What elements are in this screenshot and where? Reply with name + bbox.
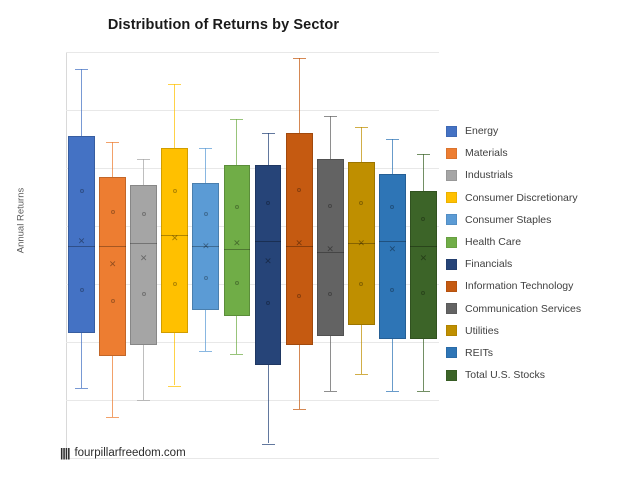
legend-swatch xyxy=(446,214,457,225)
mean-marker: ✕ xyxy=(233,239,241,247)
legend-item[interactable]: Energy xyxy=(446,120,617,142)
whisker-cap-upper xyxy=(137,159,150,160)
legend-item[interactable]: Financials xyxy=(446,253,617,275)
median-line xyxy=(410,246,437,247)
plot-area: ✕✕✕✕✕✕✕✕✕✕✕✕ xyxy=(66,52,439,458)
legend-swatch xyxy=(446,259,457,270)
quartile-marker xyxy=(173,282,177,286)
legend-label: Total U.S. Stocks xyxy=(465,369,545,381)
quartile-marker xyxy=(297,294,301,298)
mean-marker: ✕ xyxy=(357,239,365,247)
quartile-marker xyxy=(111,210,115,214)
box-plot-series[interactable]: ✕ xyxy=(286,52,313,458)
box-plot-series[interactable]: ✕ xyxy=(317,52,344,458)
legend-label: REITs xyxy=(465,347,493,359)
median-line xyxy=(255,241,282,242)
legend-label: Consumer Discretionary xyxy=(465,192,578,204)
box-plot-series[interactable]: ✕ xyxy=(224,52,251,458)
mean-marker: ✕ xyxy=(78,237,86,245)
box-plot-series[interactable]: ✕ xyxy=(192,52,219,458)
box-plot-chart: Distribution of Returns by Sector Annual… xyxy=(0,0,617,490)
legend-item[interactable]: Health Care xyxy=(446,231,617,253)
legend-swatch xyxy=(446,170,457,181)
mean-marker: ✕ xyxy=(388,245,396,253)
whisker-cap-lower xyxy=(230,354,243,355)
watermark-mark-icon: |||| xyxy=(60,446,69,460)
legend-item[interactable]: Industrials xyxy=(446,164,617,186)
box[interactable] xyxy=(68,136,95,333)
mean-marker: ✕ xyxy=(419,254,427,262)
whisker-cap-lower xyxy=(137,400,150,401)
whisker-cap-upper xyxy=(168,84,181,85)
watermark-text: fourpillarfreedom.com xyxy=(74,447,185,459)
median-line xyxy=(379,241,406,242)
legend-swatch xyxy=(446,281,457,292)
legend-label: Materials xyxy=(465,147,508,159)
legend-swatch xyxy=(446,126,457,137)
whisker-cap-upper xyxy=(262,133,275,134)
whisker-cap-upper xyxy=(75,69,88,70)
chart-title: Distribution of Returns by Sector xyxy=(0,17,447,33)
quartile-marker xyxy=(297,188,301,192)
y-axis-title: Annual Returns xyxy=(16,176,27,266)
watermark: |||| fourpillarfreedom.com xyxy=(60,446,186,460)
legend-item[interactable]: Consumer Staples xyxy=(446,209,617,231)
legend-label: Information Technology xyxy=(465,280,573,292)
legend-item[interactable]: Information Technology xyxy=(446,275,617,297)
legend-label: Energy xyxy=(465,125,498,137)
quartile-marker xyxy=(142,292,146,296)
box-plot-series[interactable]: ✕ xyxy=(99,52,126,458)
mean-marker: ✕ xyxy=(109,260,117,268)
legend-swatch xyxy=(446,303,457,314)
legend-item[interactable]: Materials xyxy=(446,142,617,164)
whisker-cap-upper xyxy=(324,116,337,117)
legend-swatch xyxy=(446,325,457,336)
box[interactable] xyxy=(379,174,406,339)
legend-swatch xyxy=(446,370,457,381)
legend-label: Utilities xyxy=(465,325,499,337)
median-line xyxy=(130,243,157,244)
mean-marker: ✕ xyxy=(264,257,272,265)
median-line xyxy=(99,246,126,247)
legend: EnergyMaterialsIndustrialsConsumer Discr… xyxy=(446,120,617,386)
legend-item[interactable]: REITs xyxy=(446,342,617,364)
legend-swatch xyxy=(446,237,457,248)
whisker-cap-upper xyxy=(417,154,430,155)
quartile-marker xyxy=(80,189,84,193)
whisker-cap-lower xyxy=(75,388,88,389)
box-plot-series[interactable]: ✕ xyxy=(379,52,406,458)
mean-marker: ✕ xyxy=(326,245,334,253)
whisker-cap-upper xyxy=(293,58,306,59)
whisker-cap-lower xyxy=(168,386,181,387)
legend-label: Communication Services xyxy=(465,303,581,315)
whisker-cap-upper xyxy=(230,119,243,120)
legend-item[interactable]: Utilities xyxy=(446,320,617,342)
legend-item[interactable]: Communication Services xyxy=(446,298,617,320)
box-plot-series[interactable]: ✕ xyxy=(68,52,95,458)
box-plot-series[interactable]: ✕ xyxy=(348,52,375,458)
whisker-cap-lower xyxy=(386,391,399,392)
whisker-cap-lower xyxy=(355,374,368,375)
mean-marker: ✕ xyxy=(140,254,148,262)
whisker-cap-upper xyxy=(199,148,212,149)
median-line xyxy=(224,249,251,250)
whisker-cap-lower xyxy=(324,391,337,392)
quartile-marker xyxy=(235,281,239,285)
whisker-cap-lower xyxy=(106,417,119,418)
quartile-marker xyxy=(80,288,84,292)
legend-swatch xyxy=(446,192,457,203)
box[interactable] xyxy=(130,185,157,345)
legend-item[interactable]: Total U.S. Stocks xyxy=(446,364,617,386)
legend-label: Consumer Staples xyxy=(465,214,551,226)
whisker-cap-upper xyxy=(106,142,119,143)
box-plot-series[interactable]: ✕ xyxy=(255,52,282,458)
mean-marker: ✕ xyxy=(202,242,210,250)
whisker-cap-upper xyxy=(355,127,368,128)
box-plot-series[interactable]: ✕ xyxy=(410,52,437,458)
box[interactable] xyxy=(410,191,437,339)
whisker-cap-upper xyxy=(386,139,399,140)
quartile-marker xyxy=(328,204,332,208)
legend-swatch xyxy=(446,148,457,159)
whisker-cap-lower xyxy=(199,351,212,352)
legend-label: Financials xyxy=(465,258,512,270)
box-plot-series[interactable]: ✕ xyxy=(161,52,188,458)
median-line xyxy=(68,246,95,247)
mean-marker: ✕ xyxy=(171,234,179,242)
whisker-cap-lower xyxy=(293,409,306,410)
whisker-cap-lower xyxy=(417,391,430,392)
legend-item[interactable]: Consumer Discretionary xyxy=(446,187,617,209)
quartile-marker xyxy=(266,301,270,305)
quartile-marker xyxy=(173,189,177,193)
whisker-cap-lower xyxy=(262,444,275,445)
legend-label: Industrials xyxy=(465,169,513,181)
mean-marker: ✕ xyxy=(295,239,303,247)
quartile-marker xyxy=(266,201,270,205)
legend-swatch xyxy=(446,347,457,358)
box-plot-series[interactable]: ✕ xyxy=(130,52,157,458)
legend-label: Health Care xyxy=(465,236,521,248)
